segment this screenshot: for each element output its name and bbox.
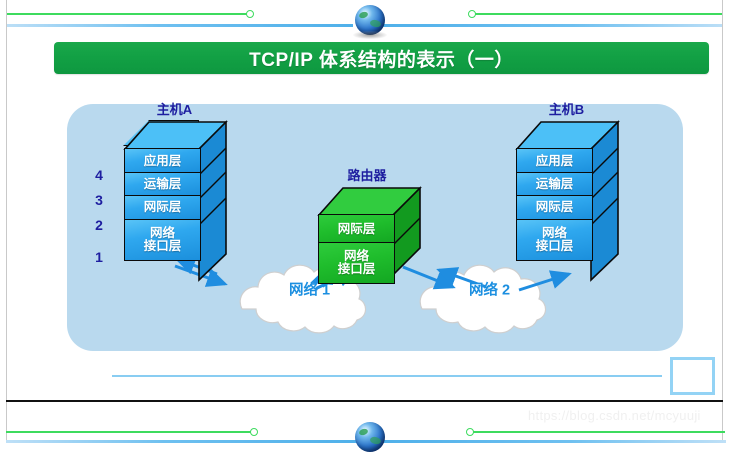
host-b-layer-internet: 网际层 [516, 195, 593, 221]
router-layer-internet-label: 网际层 [338, 223, 376, 236]
footer-green-ring-right [466, 428, 474, 436]
host-b-layer-network-interface: 网络 接口层 [516, 219, 593, 261]
router-label: 路由器 [317, 165, 417, 184]
footer-green-line-left [6, 431, 252, 433]
page-footer: https://blog.csdn.net/mcyuuji [6, 402, 723, 441]
blue-line-left [6, 24, 353, 27]
green-line-right [475, 13, 723, 15]
network-2-label: 网络 2 [427, 279, 552, 300]
host-a-layer-network-interface-label2: 接口层 [144, 240, 182, 253]
layer-number-4: 4 [89, 162, 109, 188]
router-front-faces: 网际层 网络 接口层 [318, 214, 395, 284]
host-b-side-face [591, 122, 621, 282]
bottom-blue-line [112, 375, 662, 377]
host-b-layer-internet-label: 网际层 [536, 201, 574, 214]
bottom-right-square [670, 357, 715, 395]
router-layer-network-interface: 网络 接口层 [318, 242, 395, 284]
green-ring-left [246, 10, 254, 18]
globe-shadow [353, 31, 387, 39]
host-a-layer-application: 应用层 [124, 148, 201, 174]
diagram-panel: 网络 1 网络 2 4 3 2 1 主机A [67, 104, 683, 351]
slide-title-bar: TCP/IP 体系结构的表示（一） [54, 42, 709, 74]
layer-number-1: 1 [89, 238, 109, 276]
green-ring-right [468, 10, 476, 18]
host-a-layer-network-interface: 网络 接口层 [124, 219, 201, 261]
page-title: TCP/IP 体系结构的表示（一） [249, 45, 514, 72]
slide-canvas: TCP/IP 体系结构的表示（一） [6, 0, 723, 400]
host-b-layer-application: 应用层 [516, 148, 593, 174]
blue-line-right [379, 24, 723, 27]
host-a-side-face [199, 122, 229, 282]
host-b-layer-transport: 运输层 [516, 172, 593, 196]
green-line-left [6, 13, 247, 15]
layer-number-2: 2 [89, 212, 109, 238]
host-b-label: 主机B [515, 99, 618, 118]
router-side-face [393, 188, 423, 288]
host-a-front-faces: 应用层 运输层 网际层 网络 接口层 [124, 148, 201, 261]
host-b-layer-application-label: 应用层 [536, 155, 574, 168]
host-a-layer-transport-label: 运输层 [144, 178, 182, 191]
host-b-front-faces: 应用层 运输层 网际层 网络 接口层 [516, 148, 593, 261]
host-a-layer-transport: 运输层 [124, 172, 201, 196]
footer-green-ring-left [250, 428, 258, 436]
host-a-layer-numbers: 4 3 2 1 [89, 162, 109, 276]
host-a-label: 主机A [123, 99, 226, 118]
footer-blue-line-left [6, 440, 358, 443]
watermark: https://blog.csdn.net/mcyuuji [528, 408, 701, 423]
host-b-layer-transport-label: 运输层 [536, 178, 574, 191]
footer-blue-line-right [378, 440, 726, 443]
network-2-label-wrap: 网络 2 [427, 274, 552, 304]
router-layer-internet: 网际层 [318, 214, 395, 244]
layer-number-3: 3 [89, 188, 109, 212]
host-a-layer-internet-label: 网际层 [144, 201, 182, 214]
host-a-layer-internet: 网际层 [124, 195, 201, 221]
footer-globe-icon [355, 422, 385, 452]
host-b-layer-network-interface-label2: 接口层 [536, 240, 574, 253]
footer-green-line-right [473, 431, 725, 433]
host-a-layer-application-label: 应用层 [144, 155, 182, 168]
router-layer-network-interface-label2: 接口层 [338, 263, 376, 276]
